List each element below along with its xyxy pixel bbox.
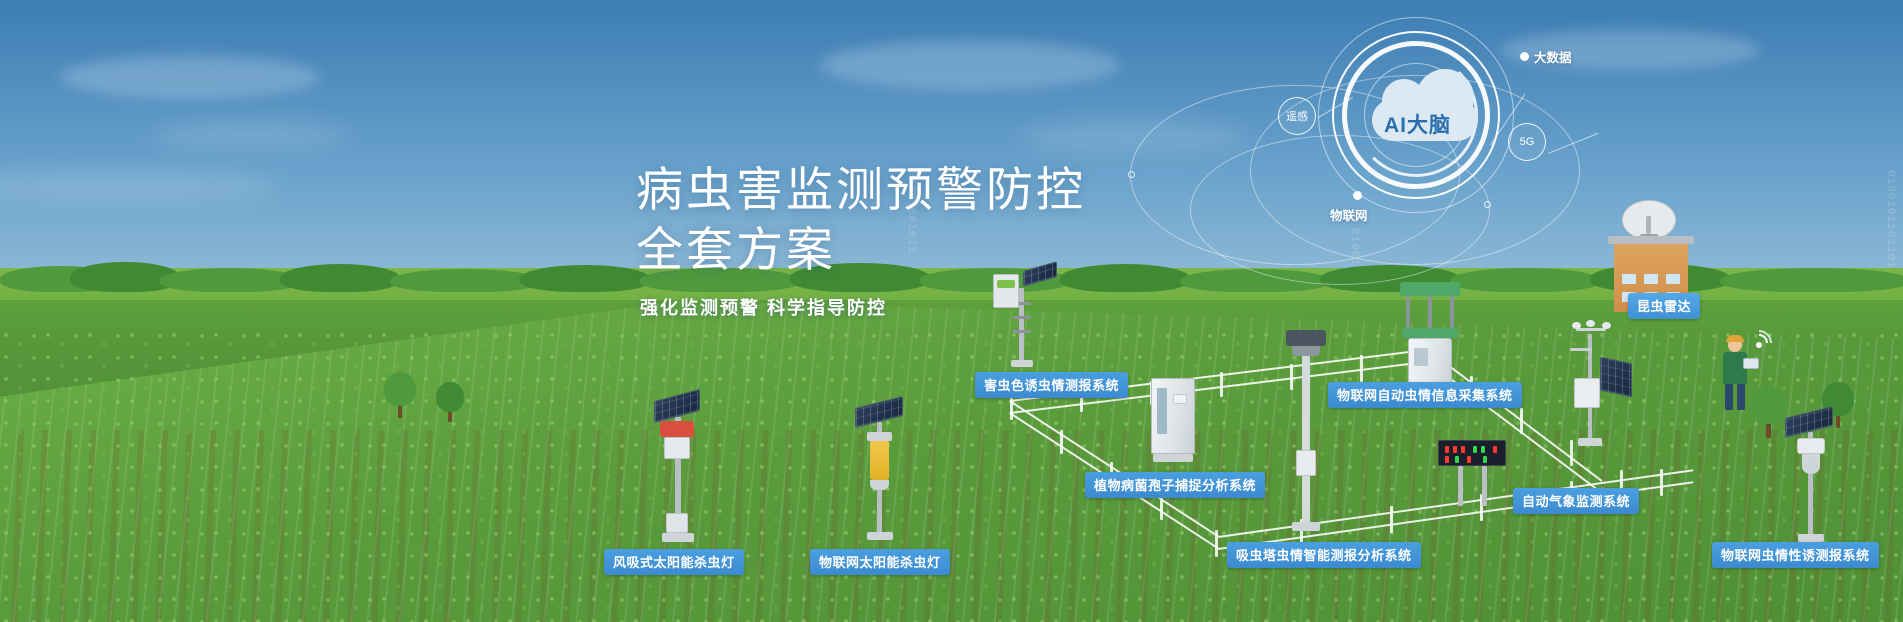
lamp-head (660, 421, 694, 437)
tag-suction-tower[interactable]: 吸虫塔虫情智能测报分析系统 (1227, 542, 1421, 568)
orbit-endpoint-left (1128, 171, 1135, 178)
device-wind-suction-lamp[interactable] (640, 395, 720, 555)
node-5g[interactable]: 5G (1508, 123, 1546, 161)
ai-brain-cluster: AI大脑 遥感 大数据 5G 物联网 (1150, 25, 1570, 275)
page-subtitle: 强化监测预警 科学指导防控 (640, 294, 887, 320)
tag-insect-radar[interactable]: 昆虫雷达 (1628, 293, 1700, 319)
device-suction-tower[interactable] (1272, 330, 1342, 540)
device-pest-color-trap[interactable] (985, 268, 1065, 368)
cloud-decor-1 (60, 55, 320, 99)
weather-datalogger (1574, 378, 1600, 408)
device-iot-pheromone[interactable] (1775, 412, 1855, 552)
device-iot-solar-lamp[interactable] (845, 402, 925, 552)
tag-iot-auto-pest[interactable]: 物联网自动虫情信息采集系统 (1328, 382, 1522, 408)
node-big-data-dot[interactable] (1520, 52, 1529, 61)
banner-canvas: 01001001011 0100101 0100101101101 010010… (0, 0, 1903, 622)
orbit-endpoint-right (1484, 201, 1491, 208)
cloud-decor-3 (820, 40, 1120, 90)
tag-iot-solar-lamp[interactable]: 物联网太阳能杀虫灯 (810, 549, 950, 575)
node-remote-sensing[interactable]: 遥感 (1278, 97, 1316, 135)
page-title-line1: 病虫害监测预警防控 (636, 163, 1086, 216)
device-auto-weather[interactable] (1548, 320, 1638, 460)
cloud-decor-5 (0, 168, 280, 204)
worker-tablet (1743, 358, 1759, 369)
led-display (1438, 440, 1506, 466)
ai-brain-label: AI大脑 (1384, 109, 1451, 139)
tag-auto-weather[interactable]: 自动气象监测系统 (1513, 488, 1639, 514)
collector-canopy (1400, 282, 1460, 296)
node-big-data-label: 大数据 (1534, 47, 1572, 66)
device-spore-capture[interactable] (1145, 378, 1205, 473)
device-led-board[interactable] (1438, 440, 1508, 510)
lamp-tube (870, 440, 889, 480)
tag-pest-color-trap[interactable]: 害虫色诱虫情测报系统 (975, 372, 1128, 398)
pheromone-head (1797, 438, 1825, 454)
cloud-decor-2 (150, 120, 350, 150)
node-iot-label: 物联网 (1330, 205, 1368, 224)
tag-iot-pheromone[interactable]: 物联网虫情性诱测报系统 (1712, 542, 1879, 568)
node-iot-dot[interactable] (1353, 191, 1362, 200)
tower-head (1286, 330, 1326, 346)
node-remote-sensing-label: 遥感 (1286, 108, 1308, 124)
page-title: 病虫害监测预警防控 全套方案 (636, 160, 1086, 280)
wifi-icon (1748, 330, 1774, 350)
tag-wind-suction-lamp[interactable]: 风吸式太阳能杀虫灯 (604, 549, 744, 575)
node-5g-label: 5G (1520, 136, 1535, 148)
tag-spore-capture[interactable]: 植物病菌孢子捕捉分析系统 (1085, 472, 1265, 498)
